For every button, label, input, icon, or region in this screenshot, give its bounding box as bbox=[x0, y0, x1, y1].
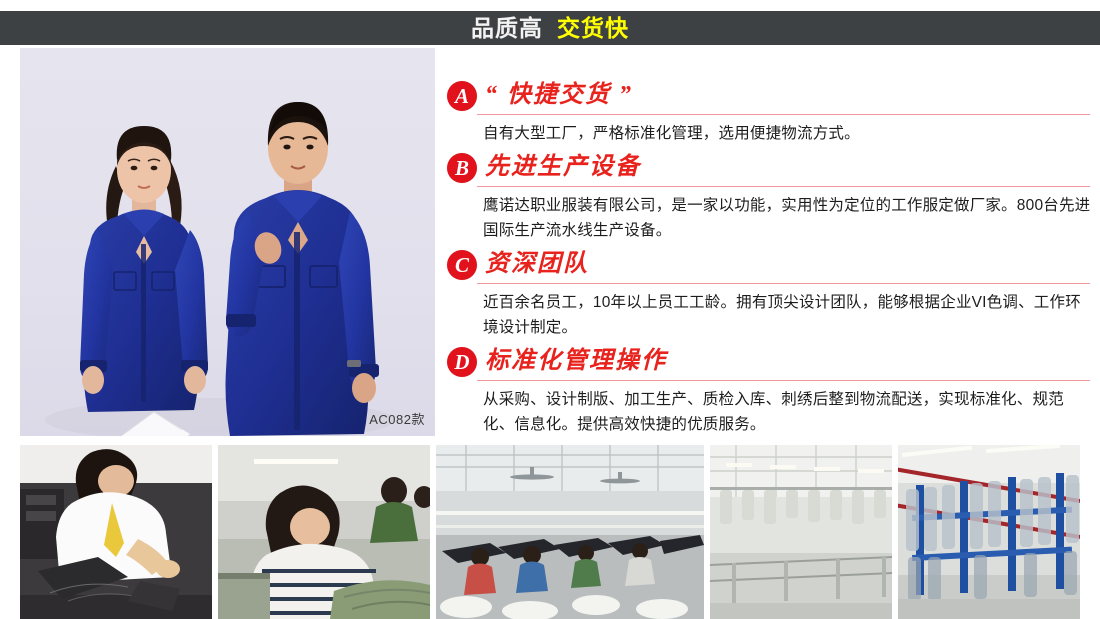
feature-a-desc: 自有大型工厂，严格标准化管理，选用便捷物流方式。 bbox=[483, 121, 1092, 146]
feature-d-rule bbox=[477, 380, 1090, 381]
strip-photo-sewing-graphic bbox=[218, 445, 430, 619]
feature-item-c: C 资深团队 近百余名员工，10年以上员工工龄。拥有顶尖设计团队，能够根据企业V… bbox=[447, 247, 1092, 340]
feature-d-desc: 从采购、设计制版、加工生产、质检入库、刺绣后整到物流配送，实现标准化、规范化、信… bbox=[483, 387, 1092, 437]
feature-item-b: B 先进生产设备 鹰诺达职业服装有限公司，是一家以功能，实用性为定位的工作服定做… bbox=[447, 150, 1092, 243]
strip-photo-warehouse-graphic bbox=[898, 445, 1080, 619]
feature-item-a: A “ 快捷交货 ” 自有大型工厂，严格标准化管理，选用便捷物流方式。 bbox=[447, 78, 1092, 146]
feature-d-title: 标准化管理操作 bbox=[485, 344, 1092, 378]
feature-c-desc: 近百余名员工，10年以上员工工龄。拥有顶尖设计团队，能够根据企业VI色调、工作环… bbox=[483, 290, 1092, 340]
feature-c-head: C 资深团队 bbox=[447, 247, 1092, 287]
header-bar: 品质高交货快 bbox=[0, 11, 1100, 45]
header-title-primary: 品质高 bbox=[471, 15, 543, 41]
hero-photo-graphic bbox=[20, 48, 435, 436]
badge-c-icon: C bbox=[447, 250, 477, 280]
feature-c-rule bbox=[477, 283, 1090, 284]
feature-c-title: 资深团队 bbox=[485, 247, 1092, 281]
strip-photo-pressing-line bbox=[710, 445, 892, 619]
strip-photo-workshop bbox=[436, 445, 704, 619]
feature-d-head: D 标准化管理操作 bbox=[447, 344, 1092, 384]
strip-photo-pressing-line-graphic bbox=[710, 445, 892, 619]
header-title-accent: 交货快 bbox=[557, 15, 629, 41]
feature-a-title: “ 快捷交货 ” bbox=[485, 78, 1092, 112]
badge-a-icon: A bbox=[447, 81, 477, 111]
feature-a-head: A “ 快捷交货 ” bbox=[447, 78, 1092, 118]
feature-b-rule bbox=[477, 186, 1090, 187]
product-feature-banner: 品质高交货快 bbox=[0, 0, 1100, 619]
strip-photo-warehouse bbox=[898, 445, 1080, 619]
badge-d-icon: D bbox=[447, 347, 477, 377]
hero-product-photo: AC082款 bbox=[20, 48, 435, 436]
hero-model-code: AC082款 bbox=[369, 409, 425, 428]
feature-a-rule bbox=[477, 114, 1090, 115]
feature-b-title: 先进生产设备 bbox=[485, 150, 1092, 184]
strip-photo-cutting-graphic bbox=[20, 445, 212, 619]
strip-photo-workshop-graphic bbox=[436, 445, 704, 619]
feature-item-d: D 标准化管理操作 从采购、设计制版、加工生产、质检入库、刺绣后整到物流配送，实… bbox=[447, 344, 1092, 437]
badge-b-icon: B bbox=[447, 153, 477, 183]
feature-list: A “ 快捷交货 ” 自有大型工厂，严格标准化管理，选用便捷物流方式。 B 先进… bbox=[447, 78, 1092, 436]
strip-photo-sewing bbox=[218, 445, 430, 619]
strip-photo-cutting bbox=[20, 445, 212, 619]
factory-photo-strip bbox=[20, 445, 1080, 619]
header-title: 品质高交货快 bbox=[471, 17, 629, 40]
feature-b-desc: 鹰诺达职业服装有限公司，是一家以功能，实用性为定位的工作服定做厂家。800台先进… bbox=[483, 193, 1092, 243]
feature-b-head: B 先进生产设备 bbox=[447, 150, 1092, 190]
